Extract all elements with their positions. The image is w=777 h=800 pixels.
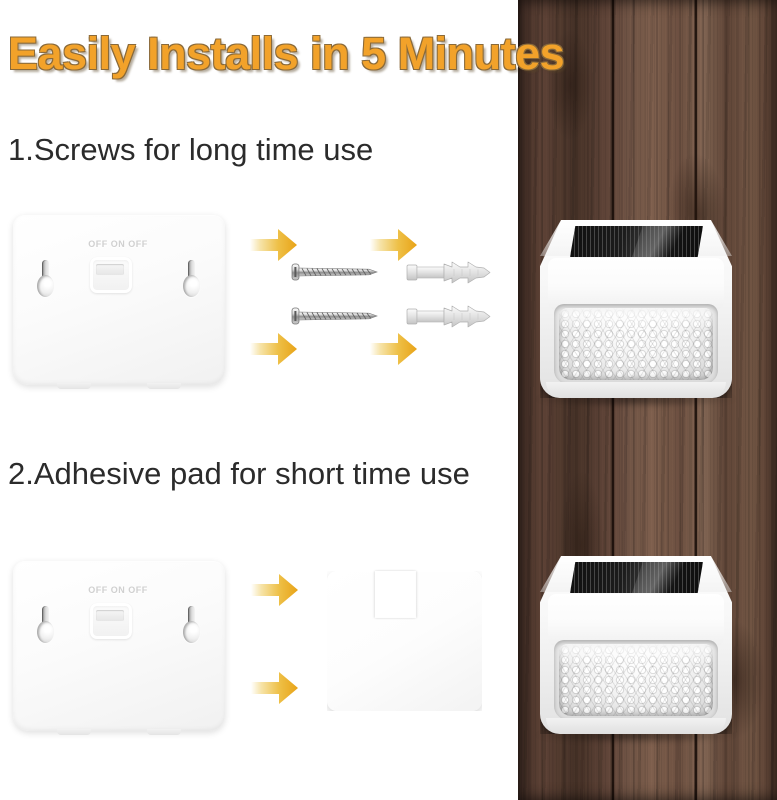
- screw-icon: [291, 259, 383, 285]
- keyhole-slot-hole: [37, 621, 54, 643]
- lens-texture: [559, 308, 713, 380]
- page-title: Easily Installs in 5 Minutes: [8, 28, 564, 80]
- light-base: [546, 382, 726, 398]
- diffuser-lens: [559, 308, 713, 380]
- light-front-face: [548, 258, 724, 310]
- arrow-right-icon: [250, 228, 298, 262]
- screw-icon: [291, 303, 383, 329]
- mounting-bracket-step2: OFF ON OFF: [13, 561, 225, 731]
- power-switch-slider[interactable]: [96, 610, 124, 621]
- power-switch-recess[interactable]: [90, 603, 132, 639]
- mounting-bracket-step1: OFF ON OFF: [13, 215, 225, 385]
- lens-frame: [554, 640, 718, 720]
- arrow-right-icon: [251, 573, 299, 607]
- solar-wall-light-bottom: [540, 556, 732, 734]
- solar-panel: [570, 562, 703, 593]
- solar-panel: [570, 226, 703, 257]
- light-base: [546, 718, 726, 734]
- arrow-right-icon: [251, 671, 299, 705]
- keyhole-slot-left: [37, 260, 54, 300]
- keyhole-slot-hole: [37, 275, 54, 297]
- bracket-bottom-tab: [57, 729, 91, 735]
- light-front-face: [548, 594, 724, 646]
- power-switch-recess[interactable]: [90, 257, 132, 293]
- solar-wall-light-top: [540, 220, 732, 398]
- power-switch-slider[interactable]: [96, 264, 124, 275]
- diffuser-lens: [559, 644, 713, 716]
- bracket-bottom-tab: [147, 383, 181, 389]
- keyhole-slot-left: [37, 606, 54, 646]
- bracket-bottom-tab: [57, 383, 91, 389]
- step-2-heading: 2.Adhesive pad for short time use: [8, 456, 470, 492]
- arrow-right-icon: [250, 332, 298, 366]
- keyhole-slot-right: [183, 606, 200, 646]
- keyhole-slot-right: [183, 260, 200, 300]
- adhesive-pad-notch: [375, 571, 416, 618]
- bracket-bottom-tab: [147, 729, 181, 735]
- lens-texture: [559, 644, 713, 716]
- switch-emboss-label: OFF ON OFF: [70, 239, 166, 249]
- wall-anchor-icon: [406, 300, 494, 334]
- lens-frame: [554, 304, 718, 384]
- step-1-heading: 1.Screws for long time use: [8, 132, 373, 168]
- arrow-right-icon: [370, 332, 418, 366]
- keyhole-slot-hole: [183, 621, 200, 643]
- switch-emboss-label: OFF ON OFF: [70, 585, 166, 595]
- wall-anchor-icon: [406, 256, 494, 290]
- keyhole-slot-hole: [183, 275, 200, 297]
